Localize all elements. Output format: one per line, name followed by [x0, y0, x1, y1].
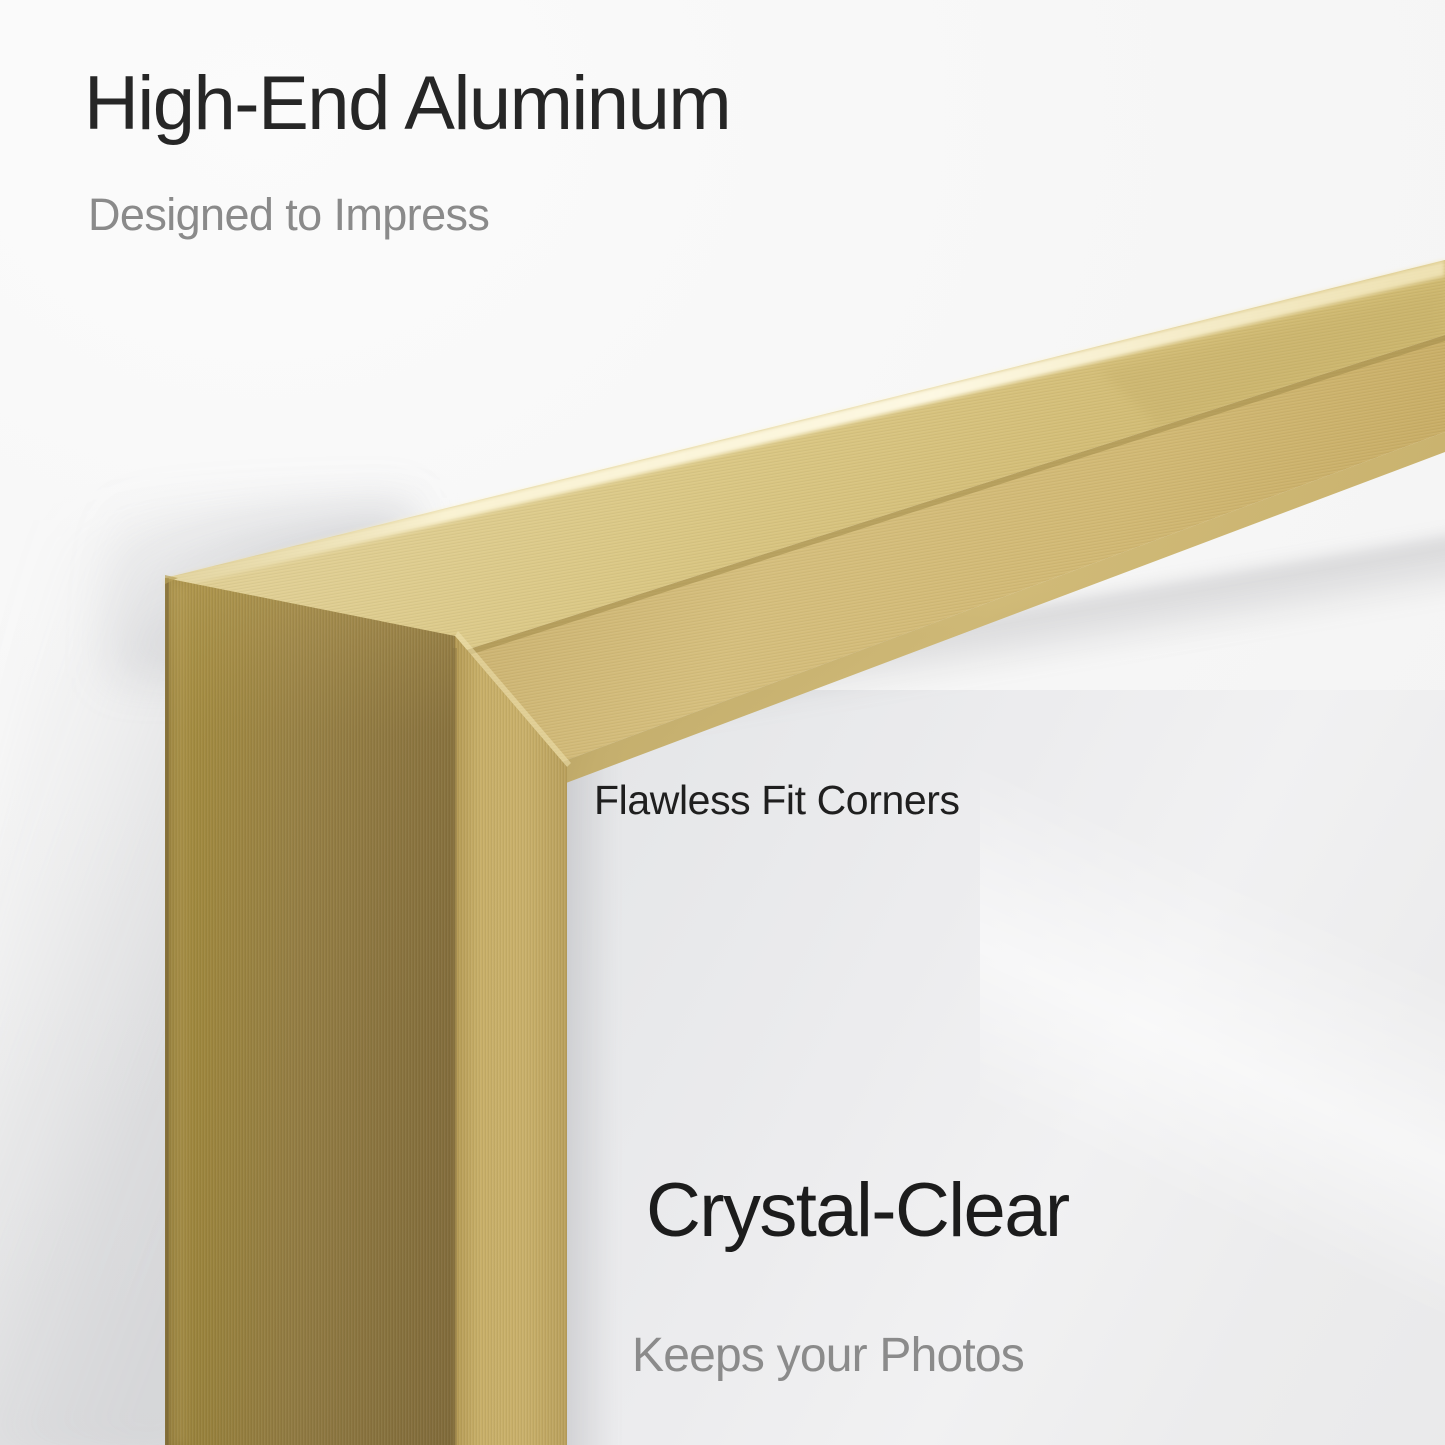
page-subtitle: Designed to Impress	[88, 192, 489, 237]
callout-glass-subtext: Keeps your Photos Looking Sharp	[632, 1197, 1024, 1445]
page-title: High-End Aluminum	[84, 66, 730, 142]
callout-flawless-fit-corners: Flawless Fit Corners	[594, 780, 960, 821]
callout-glass-subtext-line-1: Keeps your Photos	[632, 1324, 1024, 1387]
product-marketing-image: High-End Aluminum Designed to Impress Fl…	[0, 0, 1445, 1445]
